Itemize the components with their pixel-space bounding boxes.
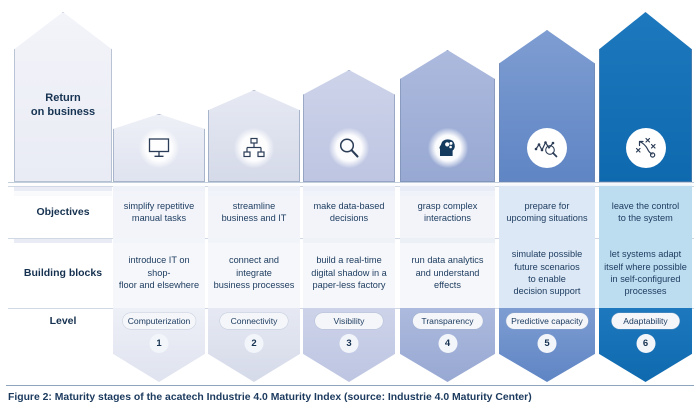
objective-cell-3[interactable]: make data-baseddecisions	[303, 186, 395, 238]
building-block-line4: decision support	[512, 285, 582, 297]
brain-head-icon	[428, 128, 468, 168]
objectives-row: Objectives simplify repetitivemanual tas…	[0, 186, 700, 238]
building-block-cell-6[interactable]: let systems adaptitself where possiblein…	[599, 238, 692, 308]
magnifier-icon	[329, 128, 369, 168]
objective-line2: manual tasks	[124, 212, 194, 224]
building-block-cell-4[interactable]: run data analyticsand understand effects	[400, 238, 495, 308]
objective-line2: upcoming situations	[506, 212, 587, 224]
objective-line1: streamline	[222, 200, 287, 212]
building-block-line3: in self-configured	[604, 273, 687, 285]
figure-container: Return on business Objectives simplify r…	[0, 0, 700, 414]
building-blocks-row-label: Building blocks	[14, 238, 112, 308]
bar-shape	[400, 50, 495, 182]
building-block-line2: itself where possible	[604, 261, 687, 273]
building-block-line2: and understand effects	[403, 267, 492, 292]
maturity-bar-chart: Return on business	[0, 0, 700, 186]
maturity-bar-predictive-capacity[interactable]	[499, 30, 595, 182]
maturity-bar-connectivity[interactable]	[208, 90, 300, 182]
level-number-badge: 3	[340, 334, 359, 353]
building-block-line2: future scenarios	[512, 261, 582, 273]
level-cell-1[interactable]: Computerization1	[113, 308, 205, 382]
building-block-line2: floor and elsewhere	[116, 279, 202, 291]
objective-line2: to the system	[612, 212, 679, 224]
objective-line1: simplify repetitive	[124, 200, 194, 212]
maturity-bar-computerization[interactable]	[113, 114, 205, 182]
objective-line1: prepare for	[506, 200, 587, 212]
level-cell-5[interactable]: Predictive capacity5	[499, 308, 595, 382]
level-row-label: Level	[14, 308, 112, 382]
bar-shape	[303, 70, 395, 182]
level-cell-2[interactable]: Connectivity2	[208, 308, 300, 382]
objective-cell-5[interactable]: prepare forupcoming situations	[499, 186, 595, 238]
monitor-icon	[139, 128, 179, 168]
bar-shape	[499, 30, 595, 182]
level-name-pill: Adaptability	[611, 313, 680, 329]
objectives-row-label: Objectives	[14, 186, 112, 238]
building-block-line3: paper-less factory	[311, 279, 387, 291]
level-name-pill: Visibility	[315, 313, 383, 329]
return-on-business-label: Return on business	[14, 92, 112, 120]
return-label-line1: Return	[14, 92, 112, 106]
building-block-line2: business processes	[211, 279, 297, 291]
bar-shape	[599, 12, 692, 182]
level-number-badge: 2	[245, 334, 264, 353]
objective-cell-6[interactable]: leave the controlto the system	[599, 186, 692, 238]
building-block-cell-3[interactable]: build a real-timedigital shadow in apape…	[303, 238, 395, 308]
level-cell-6[interactable]: Adaptability6	[599, 308, 692, 382]
objective-line2: business and IT	[222, 212, 287, 224]
level-cell-3[interactable]: Visibility3	[303, 308, 395, 382]
level-name-pill: Transparency	[412, 313, 482, 329]
figure-caption: Figure 2: Maturity stages of the acatech…	[8, 392, 692, 403]
building-block-line2: digital shadow in a	[311, 267, 387, 279]
level-name-pill: Predictive capacity	[506, 313, 588, 329]
level-name-pill: Connectivity	[220, 313, 288, 329]
maturity-bar-transparency[interactable]	[400, 50, 495, 182]
building-block-cell-1[interactable]: introduce IT on shop-floor and elsewhere	[113, 238, 205, 308]
objective-line2: interactions	[418, 212, 478, 224]
maturity-bar-adaptability[interactable]	[599, 12, 692, 182]
level-number-badge: 1	[150, 334, 169, 353]
strategy-icon	[626, 128, 666, 168]
building-block-line1: simulate possible	[512, 248, 582, 260]
building-block-cell-5[interactable]: simulate possiblefuture scenariosto enab…	[499, 238, 595, 308]
objective-line1: leave the control	[612, 200, 679, 212]
objective-cell-2[interactable]: streamlinebusiness and IT	[208, 186, 300, 238]
bar-shape	[113, 114, 205, 182]
level-number-badge: 4	[438, 334, 457, 353]
building-block-line3: to enable	[512, 273, 582, 285]
building-block-line1: introduce IT on shop-	[116, 254, 202, 279]
level-name-pill: Computerization	[123, 313, 196, 329]
maturity-bar-visibility[interactable]	[303, 70, 395, 182]
return-on-business-bar: Return on business	[14, 12, 112, 182]
building-block-cell-2[interactable]: connect and integratebusiness processes	[208, 238, 300, 308]
building-block-line1: connect and integrate	[211, 254, 297, 279]
forecast-chart-icon	[527, 128, 567, 168]
objective-cell-1[interactable]: simplify repetitivemanual tasks	[113, 186, 205, 238]
objective-line1: grasp complex	[418, 200, 478, 212]
building-blocks-row: Building blocks introduce IT on shop-flo…	[0, 238, 700, 308]
building-block-line1: let systems adapt	[604, 248, 687, 260]
level-cell-4[interactable]: Transparency4	[400, 308, 495, 382]
level-row: Level Computerization1Connectivity2Visib…	[0, 308, 700, 382]
level-number-badge: 6	[636, 334, 655, 353]
objective-cell-4[interactable]: grasp complexinteractions	[400, 186, 495, 238]
building-block-line1: run data analytics	[403, 254, 492, 266]
objective-line1: make data-based	[314, 200, 385, 212]
building-block-line1: build a real-time	[311, 254, 387, 266]
network-icon	[234, 128, 274, 168]
caption-divider	[6, 385, 694, 386]
bar-shape	[208, 90, 300, 182]
objective-line2: decisions	[314, 212, 385, 224]
return-label-line2: on business	[14, 106, 112, 120]
level-number-badge: 5	[538, 334, 557, 353]
building-block-line4: processes	[604, 285, 687, 297]
maturity-table: Objectives simplify repetitivemanual tas…	[0, 186, 700, 382]
